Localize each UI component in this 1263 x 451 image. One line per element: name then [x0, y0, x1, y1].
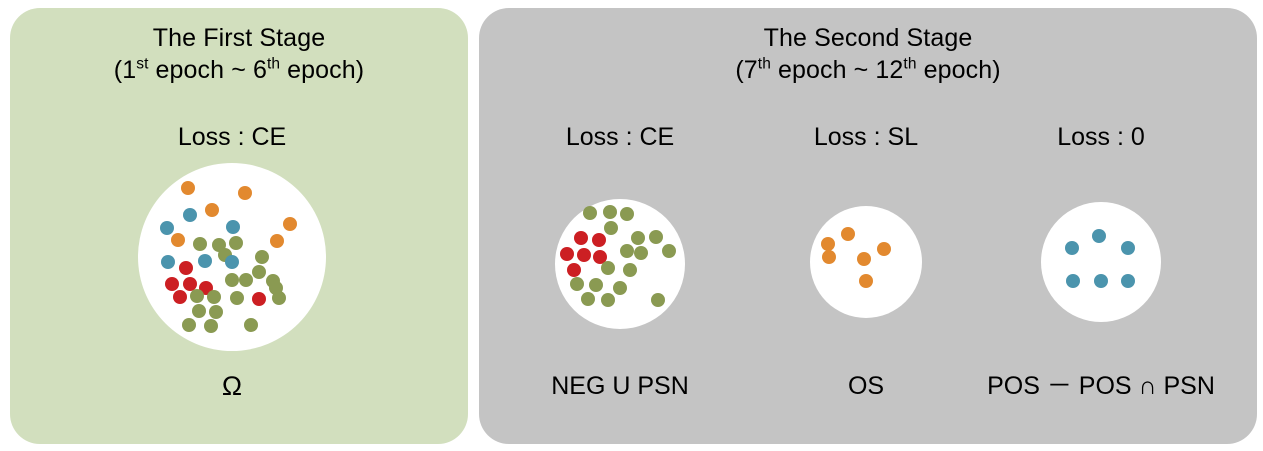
- sample-dot-olive: [225, 273, 239, 287]
- sample-dot-orange: [181, 181, 195, 195]
- sample-dot-olive: [620, 207, 634, 221]
- sample-dot-olive: [190, 289, 204, 303]
- loss-label-omega-full-set: Loss : CE: [82, 122, 382, 152]
- sample-dot-blue: [183, 208, 197, 222]
- stage-second-title-line2: (7th epoch ~ 12th epoch): [479, 54, 1257, 86]
- sample-dot-olive: [272, 291, 286, 305]
- loss-label-pos-minus-pos-cap-psn: Loss : 0: [951, 122, 1251, 152]
- sample-dot-olive: [601, 261, 615, 275]
- sample-dot-olive: [229, 236, 243, 250]
- sample-dot-red: [574, 231, 588, 245]
- sample-bubble-os-subset: [810, 206, 922, 318]
- sample-dot-orange: [238, 186, 252, 200]
- sample-dot-olive: [255, 250, 269, 264]
- sample-dot-red: [179, 261, 193, 275]
- sample-dot-olive: [192, 304, 206, 318]
- sample-dot-blue: [1092, 229, 1106, 243]
- sample-dot-olive: [239, 273, 253, 287]
- sample-dot-olive: [662, 244, 676, 258]
- sample-dot-olive: [230, 291, 244, 305]
- sample-bubble-neg-union-psn: [555, 199, 685, 329]
- sample-dot-olive: [570, 277, 584, 291]
- set-label-os-subset: OS: [848, 371, 884, 401]
- sample-dot-orange: [171, 233, 185, 247]
- sample-dot-olive: [604, 221, 618, 235]
- sample-dot-olive: [651, 293, 665, 307]
- sample-dot-red: [252, 292, 266, 306]
- sample-dot-olive: [613, 281, 627, 295]
- stage-first-title-line1: The First Stage: [153, 24, 325, 52]
- sample-dot-red: [592, 233, 606, 247]
- sample-dot-olive: [182, 318, 196, 332]
- sample-dot-orange: [205, 203, 219, 217]
- sample-dot-olive: [252, 265, 266, 279]
- sample-dot-orange: [270, 234, 284, 248]
- sample-dot-blue: [160, 221, 174, 235]
- sample-dot-olive: [631, 231, 645, 245]
- sample-bubble-pos-minus-pos-cap-psn: [1041, 202, 1161, 322]
- sample-dot-orange: [859, 274, 873, 288]
- sample-dot-olive: [207, 290, 221, 304]
- sample-dot-olive: [603, 205, 617, 219]
- sample-dot-orange: [283, 217, 297, 231]
- sample-dot-olive: [244, 318, 258, 332]
- sample-dot-orange: [857, 252, 871, 266]
- sample-dot-blue: [1121, 274, 1135, 288]
- sample-dot-olive: [589, 278, 603, 292]
- sample-dot-blue: [161, 255, 175, 269]
- stage-second-title: The Second Stage (7th epoch ~ 12th epoch…: [479, 22, 1257, 86]
- sample-dot-red: [560, 247, 574, 261]
- sample-dot-orange: [841, 227, 855, 241]
- sample-dot-olive: [583, 206, 597, 220]
- sample-dot-red: [577, 248, 591, 262]
- sample-bubble-omega-full-set: [138, 163, 326, 351]
- sample-dot-red: [173, 290, 187, 304]
- sample-dot-olive: [209, 305, 223, 319]
- sample-dot-blue: [225, 255, 239, 269]
- sample-dot-olive: [204, 319, 218, 333]
- sample-dot-olive: [649, 230, 663, 244]
- sample-dot-orange: [822, 250, 836, 264]
- stage-first-title-line2: (1st epoch ~ 6th epoch): [10, 54, 468, 86]
- sample-dot-blue: [1121, 241, 1135, 255]
- sample-dot-blue: [198, 254, 212, 268]
- set-label-neg-union-psn: NEG U PSN: [551, 371, 689, 401]
- set-label-pos-minus-pos-cap-psn: POS － POS ∩ PSN: [987, 371, 1215, 401]
- sample-dot-olive: [581, 292, 595, 306]
- sample-dot-blue: [1066, 274, 1080, 288]
- sample-dot-orange: [877, 242, 891, 256]
- set-label-omega-full-set: Ω: [222, 371, 242, 401]
- stage-second-title-line1: The Second Stage: [764, 24, 973, 52]
- sample-dot-olive: [601, 293, 615, 307]
- sample-dot-blue: [1065, 241, 1079, 255]
- sample-dot-orange: [821, 237, 835, 251]
- sample-dot-red: [567, 263, 581, 277]
- sample-dot-olive: [193, 237, 207, 251]
- sample-dot-olive: [634, 246, 648, 260]
- sample-dot-blue: [226, 220, 240, 234]
- diagram-canvas: The First Stage (1st epoch ~ 6th epoch) …: [0, 0, 1263, 451]
- sample-dot-olive: [623, 263, 637, 277]
- sample-dot-red: [165, 277, 179, 291]
- stage-first-title: The First Stage (1st epoch ~ 6th epoch): [10, 22, 468, 86]
- sample-dot-blue: [1094, 274, 1108, 288]
- sample-dot-olive: [620, 244, 634, 258]
